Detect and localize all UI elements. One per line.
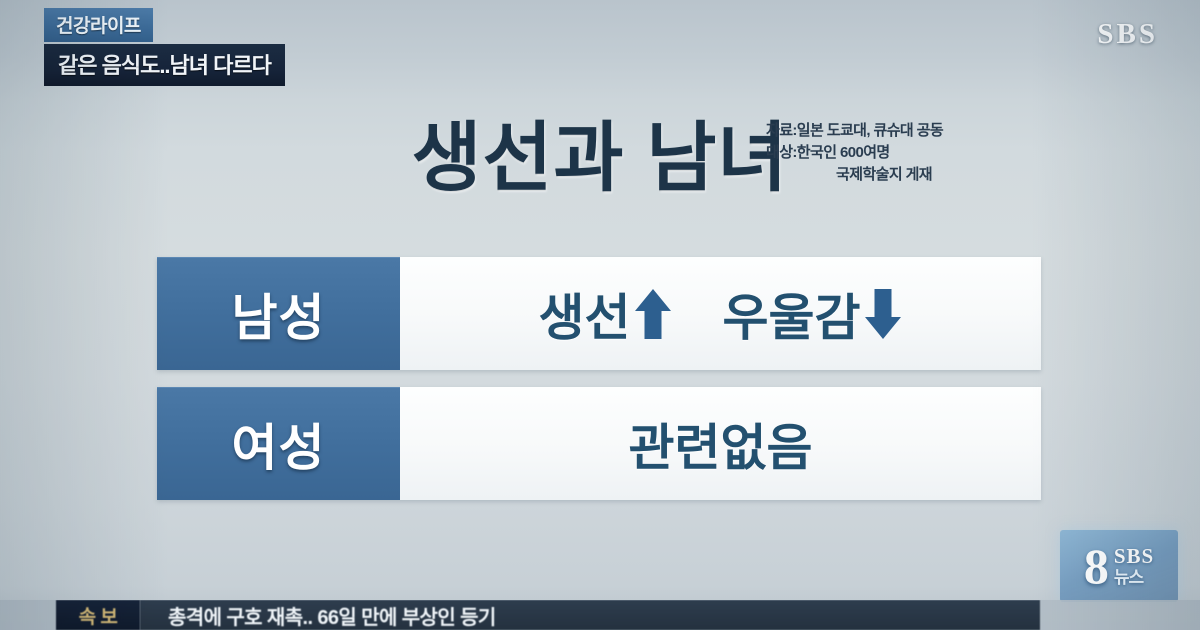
news-program-bug: 8 SBS 뉴스 bbox=[1060, 530, 1178, 602]
page-title: 생선과 남녀 bbox=[412, 96, 789, 206]
bug-wordmark: SBS 뉴스 bbox=[1114, 546, 1154, 586]
results-table: 남성 생선 우울감 bbox=[157, 257, 1041, 500]
row-value-male: 생선 우울감 bbox=[400, 257, 1041, 370]
broadcast-graphic-screen: 건강라이프 같은 음식도..남녀 다르다 SBS 생선과 남녀 자료:일본 도쿄… bbox=[0, 0, 1200, 630]
sbs-watermark-logo: SBS bbox=[1097, 18, 1158, 51]
row-value-female: 관련없음 bbox=[400, 387, 1041, 500]
metric-none: 관련없음 bbox=[629, 408, 813, 480]
bug-program-name: 뉴스 bbox=[1114, 569, 1143, 586]
topic-subtitle-tag: 같은 음식도..남녀 다르다 bbox=[44, 44, 285, 86]
metric-fish: 생선 bbox=[539, 278, 673, 350]
metric-depression: 우울감 bbox=[723, 278, 903, 350]
news-ticker: 속 보 총격에 구호 재촉.. 66일 만에 부상인 등기 bbox=[0, 600, 1200, 630]
ticker-right-gutter bbox=[1040, 600, 1200, 630]
metric-none-label: 관련없음 bbox=[629, 408, 813, 480]
metric-fish-label: 생선 bbox=[539, 278, 631, 350]
table-row: 남성 생선 우울감 bbox=[157, 257, 1041, 370]
table-row: 여성 관련없음 bbox=[157, 387, 1041, 500]
bug-channel-name: SBS bbox=[1114, 546, 1154, 567]
arrow-up-icon bbox=[633, 287, 673, 341]
row-label-male: 남성 bbox=[157, 257, 400, 370]
source-line-2: 대상:한국인 600여명 bbox=[766, 142, 1002, 164]
headline-block: 생선과 남녀 bbox=[0, 96, 1200, 206]
source-line-1: 자료:일본 도쿄대, 큐슈대 공동 bbox=[766, 120, 1002, 142]
ticker-breaking-tag: 속 보 bbox=[56, 600, 140, 630]
source-line-3: 국제학술지 게재 bbox=[766, 164, 1002, 186]
topic-category-tag: 건강라이프 bbox=[44, 8, 153, 42]
source-credits: 자료:일본 도쿄대, 큐슈대 공동 대상:한국인 600여명 국제학술지 게재 bbox=[766, 120, 1002, 185]
arrow-down-icon bbox=[863, 287, 903, 341]
row-label-female: 여성 bbox=[157, 387, 400, 500]
topic-tag-group: 건강라이프 같은 음식도..남녀 다르다 bbox=[44, 8, 285, 86]
metric-depression-label: 우울감 bbox=[723, 278, 861, 350]
ticker-left-gutter bbox=[0, 600, 56, 630]
bug-hour-number: 8 bbox=[1084, 541, 1109, 591]
ticker-headline-text: 총격에 구호 재촉.. 66일 만에 부상인 등기 bbox=[140, 600, 1040, 630]
